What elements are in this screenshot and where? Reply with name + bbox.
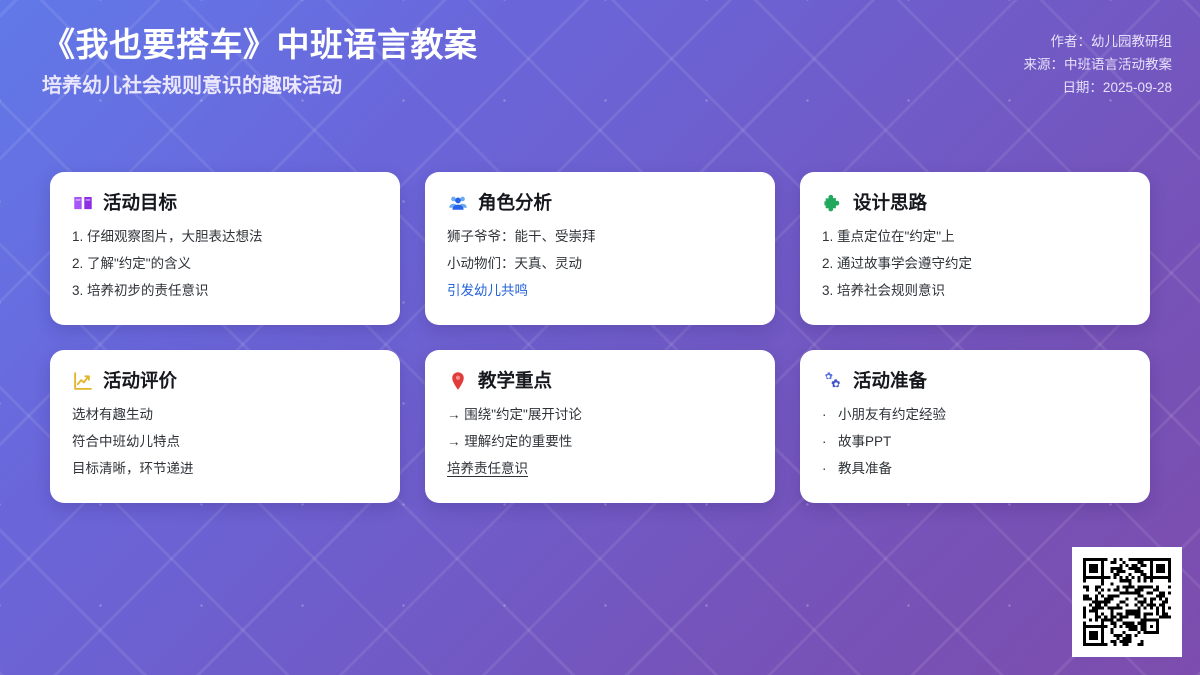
card-line: 选材有趣生动 <box>72 406 378 424</box>
slide-header: 《我也要搭车》中班语言教案 培养幼儿社会规则意识的趣味活动 作者：幼儿园教研组 … <box>0 0 1200 150</box>
card-body: 1. 重点定位在"约定"上 2. 通过故事学会遵守约定 3. 培养社会规则意识 <box>822 228 1128 301</box>
card-role-analysis[interactable]: 角色分析 狮子爷爷：能干、受崇拜 小动物们：天真、灵动 引发幼儿共鸣 <box>425 172 775 325</box>
open-book-icon <box>72 192 94 214</box>
slide-canvas: 《我也要搭车》中班语言教案 培养幼儿社会规则意识的趣味活动 作者：幼儿园教研组 … <box>0 0 1200 675</box>
card-header: 设计思路 <box>822 192 1128 214</box>
card-body: → 围绕"约定"展开讨论 → 理解约定的重要性 培养责任意识 <box>447 406 753 479</box>
card-activity-evaluation[interactable]: 活动评价 选材有趣生动 符合中班幼儿特点 目标清晰，环节递进 <box>50 350 400 503</box>
card-header: 角色分析 <box>447 192 753 214</box>
card-body: 选材有趣生动 符合中班幼儿特点 目标清晰，环节递进 <box>72 406 378 479</box>
card-line: → 理解约定的重要性 <box>447 433 753 451</box>
card-activity-goals[interactable]: 活动目标 1. 仔细观察图片，大胆表达想法 2. 了解"约定"的含义 3. 培养… <box>50 172 400 325</box>
card-line: 教具准备 <box>822 460 1128 478</box>
card-line: 符合中班幼儿特点 <box>72 433 378 451</box>
card-line-highlight: 引发幼儿共鸣 <box>447 282 753 300</box>
card-line: 1. 仔细观察图片，大胆表达想法 <box>72 228 378 246</box>
card-activity-preparation[interactable]: 活动准备 小朋友有约定经验 故事PPT 教具准备 <box>800 350 1150 503</box>
card-line: 1. 重点定位在"约定"上 <box>822 228 1128 246</box>
puzzle-piece-icon <box>822 192 844 214</box>
title-block: 《我也要搭车》中班语言教案 培养幼儿社会规则意识的趣味活动 <box>42 24 478 99</box>
card-title: 角色分析 <box>478 194 552 213</box>
qr-code[interactable] <box>1083 558 1171 646</box>
gears-icon <box>822 370 844 392</box>
metadata-block: 作者：幼儿园教研组 来源：中班语言活动教案 日期：2025-09-28 <box>1024 30 1173 100</box>
card-body: 小朋友有约定经验 故事PPT 教具准备 <box>822 406 1128 479</box>
card-title: 教学重点 <box>478 372 552 391</box>
card-line: 小动物们：天真、灵动 <box>447 255 753 273</box>
card-header: 教学重点 <box>447 370 753 392</box>
card-body: 1. 仔细观察图片，大胆表达想法 2. 了解"约定"的含义 3. 培养初步的责任… <box>72 228 378 301</box>
card-line: 小朋友有约定经验 <box>822 406 1128 424</box>
page-subtitle: 培养幼儿社会规则意识的趣味活动 <box>42 73 478 99</box>
card-line: 狮子爷爷：能干、受崇拜 <box>447 228 753 246</box>
card-line: 2. 通过故事学会遵守约定 <box>822 255 1128 273</box>
card-title: 活动目标 <box>103 194 177 213</box>
card-header: 活动评价 <box>72 370 378 392</box>
card-grid: 活动目标 1. 仔细观察图片，大胆表达想法 2. 了解"约定"的含义 3. 培养… <box>50 172 1150 503</box>
card-line: 3. 培养初步的责任意识 <box>72 282 378 300</box>
card-header: 活动准备 <box>822 370 1128 392</box>
card-title: 活动评价 <box>103 372 177 391</box>
card-line: → 围绕"约定"展开讨论 <box>447 406 753 424</box>
card-line: 2. 了解"约定"的含义 <box>72 255 378 273</box>
card-body: 狮子爷爷：能干、受崇拜 小动物们：天真、灵动 引发幼儿共鸣 <box>447 228 753 301</box>
card-line: 目标清晰，环节递进 <box>72 460 378 478</box>
card-design-approach[interactable]: 设计思路 1. 重点定位在"约定"上 2. 通过故事学会遵守约定 3. 培养社会… <box>800 172 1150 325</box>
metadata-source: 来源：中班语言活动教案 <box>1024 53 1173 76</box>
chart-increasing-icon <box>72 370 94 392</box>
people-group-icon <box>447 192 469 214</box>
card-title: 设计思路 <box>853 194 927 213</box>
page-title: 《我也要搭车》中班语言教案 <box>42 24 478 65</box>
card-line: 故事PPT <box>822 433 1128 451</box>
card-line: 3. 培养社会规则意识 <box>822 282 1128 300</box>
card-teaching-focus[interactable]: 教学重点 → 围绕"约定"展开讨论 → 理解约定的重要性 培养责任意识 <box>425 350 775 503</box>
card-line-emphasis: 培养责任意识 <box>447 460 753 478</box>
metadata-date: 日期：2025-09-28 <box>1024 76 1173 99</box>
metadata-author: 作者：幼儿园教研组 <box>1024 30 1173 53</box>
map-pin-icon <box>447 370 469 392</box>
card-title: 活动准备 <box>853 372 927 391</box>
card-header: 活动目标 <box>72 192 378 214</box>
qr-code-panel[interactable] <box>1072 547 1182 657</box>
